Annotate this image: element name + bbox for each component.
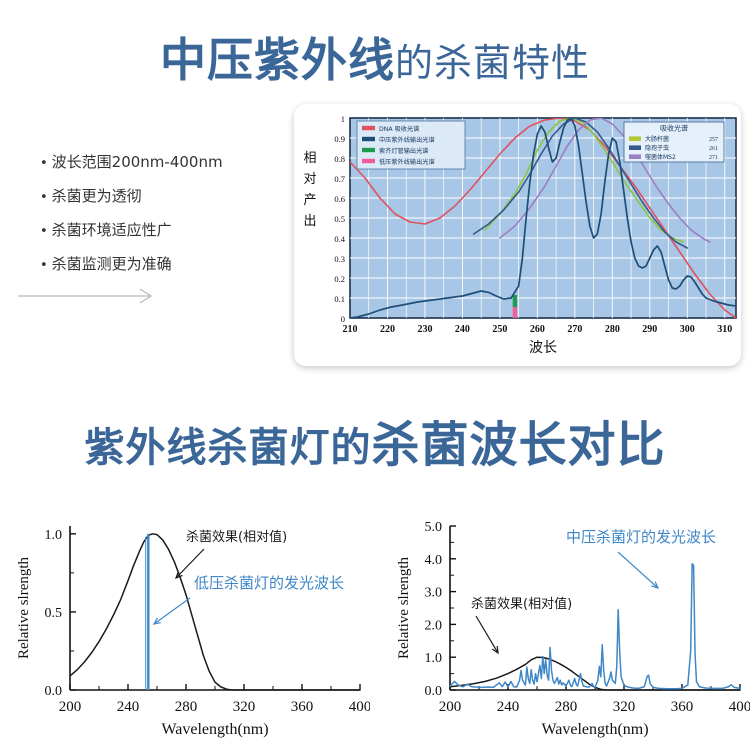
- x-tick-label: 230: [417, 324, 432, 335]
- x-tick-label: 200: [439, 699, 462, 715]
- legend-swatch: [629, 136, 641, 141]
- chart-annotation-label: 杀菌效果(相对值): [471, 596, 572, 612]
- data-series-line: [70, 534, 360, 690]
- data-series-line: [450, 564, 740, 689]
- list-item: •杀菌环境适应性广: [40, 223, 290, 238]
- y-tick-label: 0.0: [425, 684, 443, 699]
- chart-annotation-label: 低压杀菌灯的发光波长: [194, 574, 344, 592]
- title2-part-a: 紫外线杀菌灯的: [84, 425, 371, 471]
- x-tick-label: 290: [642, 324, 657, 335]
- x-tick-label: 240: [497, 699, 520, 715]
- list-item-label: 杀菌监测更为准确: [52, 255, 172, 273]
- x-tick-label: 250: [492, 324, 507, 335]
- x-tick-label: 240: [455, 324, 470, 335]
- legend-value: 261: [709, 146, 718, 152]
- x-tick-label: 300: [680, 324, 695, 335]
- x-tick-label: 240: [117, 699, 140, 715]
- x-tick-label: 400: [349, 699, 370, 715]
- legend-value: 257: [709, 137, 718, 143]
- y-tick-label: 0: [341, 314, 345, 324]
- bullet-marker-icon: •: [40, 258, 48, 273]
- y-tick-label: 0.9: [334, 134, 345, 144]
- bullet-marker-icon: •: [40, 224, 48, 239]
- annotation-arrow-line: [476, 616, 498, 653]
- x-axis-label: 波长: [529, 340, 557, 356]
- decorative-arrow: [18, 285, 168, 307]
- y-tick-label: 3.0: [425, 586, 443, 601]
- legend-label: 中压紫外线输出光谱: [379, 136, 435, 144]
- legend-value: 271: [709, 155, 718, 161]
- y-axis-label-char: 产: [303, 193, 316, 208]
- y-axis-label-char: 出: [303, 214, 316, 229]
- bullet-marker-icon: •: [40, 156, 48, 171]
- legend-swatch: [362, 159, 375, 163]
- title-sub-text: 的杀菌特性: [395, 41, 590, 85]
- x-tick-label: 260: [530, 324, 545, 335]
- x-tick-label: 210: [343, 324, 358, 335]
- y-axis-label: Relative slrength: [16, 556, 32, 659]
- y-tick-label: 0.5: [334, 214, 345, 224]
- annotation-arrow-line: [618, 552, 658, 588]
- y-tick-label: 5.0: [425, 520, 443, 535]
- x-tick-label: 320: [233, 699, 256, 715]
- list-item: •杀菌更为透彻: [40, 189, 290, 204]
- y-tick-label: 0.6: [334, 194, 345, 204]
- x-axis-label: Wavelength(nm): [161, 721, 268, 738]
- page-title-section1: 中压紫外线的杀菌特性: [0, 36, 750, 84]
- legend-swatch: [362, 148, 375, 152]
- chart-annotation-label: 杀菌效果(相对值): [186, 529, 287, 545]
- x-tick-label: 280: [605, 324, 620, 335]
- y-tick-label: 0.3: [334, 254, 345, 264]
- y-tick-label: 4.0: [425, 553, 443, 568]
- y-axis-label: Relative slrength: [396, 556, 412, 659]
- x-tick-label: 220: [380, 324, 395, 335]
- legend-swatch: [629, 145, 641, 150]
- list-item-label: 波长范围200nm-400nm: [52, 153, 223, 171]
- uv-output-spectrum-chart: 00.10.20.30.40.50.60.70.80.9121022023024…: [294, 104, 741, 366]
- legend-label: 大肠杆菌: [645, 135, 669, 143]
- y-tick-label: 0.1: [334, 294, 345, 304]
- legend-label: 低压紫外线输出光谱: [379, 158, 435, 166]
- low-pressure-lamp-chart: 0.00.51.0200240280320360400Wavelength(nm…: [8, 508, 370, 750]
- poster-page: 中压紫外线的杀菌特性 •波长范围200nm-400nm •杀菌更为透彻 •杀菌环…: [0, 0, 750, 750]
- title2-part-b: 杀菌波长对比: [371, 417, 665, 473]
- x-tick-label: 310: [717, 324, 732, 335]
- x-tick-label: 280: [175, 699, 198, 715]
- y-tick-label: 0.5: [45, 606, 63, 621]
- bullet-marker-icon: •: [40, 190, 48, 205]
- medium-pressure-lamp-chart: 0.01.02.03.04.05.0200240280320360400Wave…: [388, 508, 750, 750]
- legend-title: 吸收光谱: [660, 124, 688, 133]
- y-tick-label: 1: [341, 114, 345, 124]
- page-title-section2: 紫外线杀菌灯的杀菌波长对比: [0, 420, 750, 470]
- emission-bar: [513, 307, 517, 318]
- list-item-label: 杀菌更为透彻: [52, 187, 142, 205]
- title-main-text: 中压紫外线: [160, 33, 395, 87]
- annotation-arrow-line: [154, 598, 190, 624]
- legend-swatch: [362, 126, 375, 130]
- y-tick-label: 1.0: [45, 528, 63, 543]
- y-tick-label: 0.4: [334, 234, 345, 244]
- legend-label: 索齐灯管输出光谱: [379, 147, 429, 155]
- x-tick-label: 270: [567, 324, 582, 335]
- x-tick-label: 400: [729, 699, 750, 715]
- legend-label: 隐孢子虫: [645, 144, 669, 152]
- y-tick-label: 0.8: [334, 154, 345, 164]
- x-tick-label: 320: [613, 699, 636, 715]
- y-tick-label: 0.2: [334, 274, 345, 284]
- x-tick-label: 360: [291, 699, 314, 715]
- y-tick-label: 0.7: [334, 174, 345, 184]
- y-tick-label: 2.0: [425, 618, 443, 633]
- legend-label: DNA 吸收光谱: [379, 125, 419, 133]
- list-item-label: 杀菌环境适应性广: [52, 221, 172, 239]
- legend-label: 噬菌体MS2: [645, 153, 676, 161]
- list-item: •杀菌监测更为准确: [40, 257, 290, 272]
- emission-bar: [513, 295, 517, 307]
- y-tick-label: 0.0: [45, 684, 63, 699]
- y-tick-label: 1.0: [425, 651, 443, 666]
- legend-swatch: [362, 137, 375, 141]
- list-item: •波长范围200nm-400nm: [40, 155, 290, 170]
- x-tick-label: 280: [555, 699, 578, 715]
- y-axis-label-char: 相: [303, 151, 316, 166]
- y-axis-label-char: 对: [303, 172, 316, 187]
- x-tick-label: 360: [671, 699, 694, 715]
- feature-bullet-list: •波长范围200nm-400nm •杀菌更为透彻 •杀菌环境适应性广 •杀菌监测…: [40, 155, 290, 291]
- x-axis-label: Wavelength(nm): [541, 721, 648, 738]
- legend-swatch: [629, 154, 641, 159]
- x-tick-label: 200: [59, 699, 82, 715]
- chart-annotation-label: 中压杀菌灯的发光波长: [566, 528, 716, 546]
